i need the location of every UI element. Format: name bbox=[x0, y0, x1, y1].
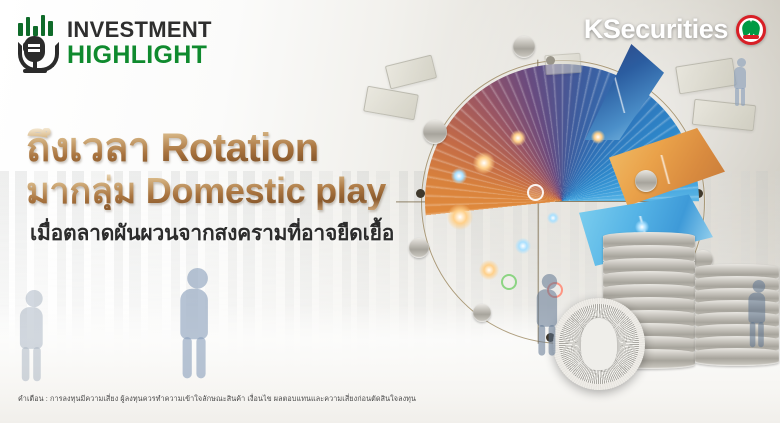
investment-highlight-logo: INVESTMENT HIGHLIGHT bbox=[14, 12, 212, 74]
banknote bbox=[692, 99, 756, 131]
podcast-microphone-icon bbox=[14, 12, 60, 74]
glow-dot bbox=[510, 130, 526, 146]
ksecurities-logo: KSecurities bbox=[584, 14, 766, 45]
floating-coin bbox=[635, 170, 657, 192]
ksecurities-wordmark: KSecurities bbox=[584, 14, 728, 45]
floating-coin bbox=[513, 36, 535, 58]
banknote bbox=[544, 53, 581, 75]
headline-subtitle: เมื่อตลาดผันผวนจากสงครามที่อาจยืดเยื้อ bbox=[30, 217, 456, 250]
investment-highlight-wordmark: INVESTMENT HIGHLIGHT bbox=[67, 19, 212, 68]
glow-dot bbox=[479, 260, 499, 280]
headline-line-2: มากลุ่ม Domestic play bbox=[26, 173, 456, 210]
glow-dot bbox=[473, 152, 495, 174]
large-standing-coin bbox=[553, 298, 645, 390]
glow-dot bbox=[547, 212, 559, 224]
headline-line-1: ถึงเวลา Rotation bbox=[26, 128, 456, 169]
logo-line-highlight: HIGHLIGHT bbox=[67, 43, 212, 68]
headline-block: ถึงเวลา Rotation มากลุ่ม Domestic play เ… bbox=[26, 128, 456, 250]
investment-highlight-banner: INVESTMENT HIGHLIGHT KSecurities ถึงเวลา… bbox=[0, 0, 780, 423]
floating-coin bbox=[473, 304, 491, 322]
ring-dot bbox=[527, 184, 544, 201]
disclaimer-text: คำเตือน : การลงทุนมีความเสี่ยง ผู้ลงทุนค… bbox=[18, 394, 416, 405]
ring-dot bbox=[501, 274, 517, 290]
kasikorn-leaf-icon bbox=[736, 15, 766, 45]
glow-dot bbox=[591, 130, 605, 144]
glow-dot bbox=[515, 238, 531, 254]
audio-bars-icon bbox=[18, 12, 60, 36]
logo-line-investment: INVESTMENT bbox=[67, 19, 212, 41]
